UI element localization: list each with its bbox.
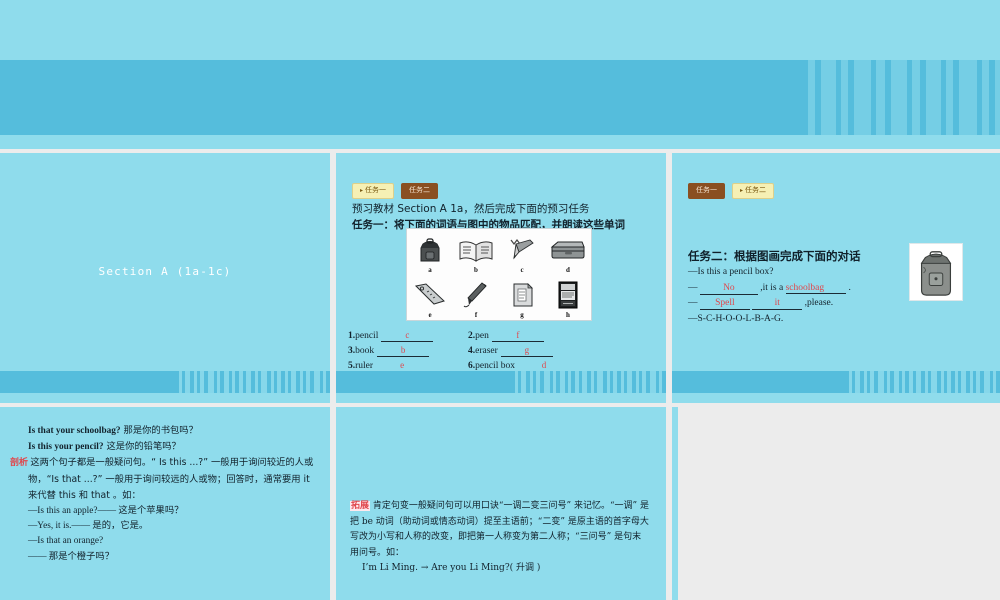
extension-text: 肯定句变一般疑问句可以用口诀“一调二变三问号” 来记忆。“一调” 是把 be 动…: [350, 501, 649, 558]
dictionary-icon: [548, 280, 588, 310]
instruction-line-1: 预习教材 Section A 1a，然后完成下面的预习任务: [352, 201, 652, 217]
match-number: 2.: [468, 331, 475, 341]
backpack-photo: [909, 243, 963, 301]
picture-cell-c: c: [499, 229, 545, 275]
match-row: 3.bookb4.eraserg: [348, 344, 658, 359]
dialogue-line-4: —S-C-H-O-O-L-B-A-G.: [688, 312, 903, 328]
dialog-example-3: —Is that an orange?: [10, 534, 322, 549]
dialogue-block: —Is this a pencil box? — No ,it is a sch…: [688, 265, 903, 327]
dash-1: —: [688, 283, 698, 293]
dialog-example-1: —Is this an apple?—— 这是个苹果吗？: [10, 504, 322, 519]
panel-left-accent: [672, 407, 678, 600]
match-item-eraser: 4.eraserg: [468, 344, 553, 357]
slide-canvas: Section A (1a-1c) ▸ 任务一 任务二 预习教材 Section…: [0, 0, 1000, 600]
task-tabs-middle: ▸ 任务一 任务二: [352, 183, 438, 199]
sentence-1-en: Is that your schoolbag?: [28, 426, 121, 436]
answer-blank-schoolbag[interactable]: schoolbag: [786, 283, 847, 294]
stripe-ticks: [515, 371, 666, 393]
line2-middle: ,it is a: [760, 283, 783, 293]
match-number: 5.: [348, 361, 355, 371]
match-word: book: [355, 346, 374, 356]
analysis-tag: 剖析: [10, 458, 28, 468]
picture-cell-h: h: [545, 275, 591, 321]
header-top-band: [0, 0, 1000, 60]
match-row: 1.pencilc2.penf: [348, 329, 658, 344]
ruler-icon: [410, 280, 450, 310]
stripe-ticks: [849, 371, 1000, 393]
grammar-note-body: Is that your schoolbag? 那是你的书包吗？ Is this…: [10, 423, 322, 565]
answer-blank-no[interactable]: No: [700, 282, 758, 295]
picture-cell-e: e: [407, 275, 453, 321]
chevron-right-icon: ▸: [740, 188, 743, 194]
picture-grid: abcdefgh: [406, 228, 592, 321]
panel-extension-notes: 拓展 肯定句变一般疑问句可以用口诀“一调二变三问号” 来记忆。“一调” 是把 b…: [336, 407, 666, 600]
open-book-icon: [456, 235, 496, 265]
dialog-example-2: —Yes, it is.—— 是的，它是。: [10, 519, 322, 534]
match-number: 6.: [468, 361, 475, 371]
match-number: 3.: [348, 346, 355, 356]
dialogue-line-3: — Spell it ,please.: [688, 296, 903, 312]
match-answer-blank[interactable]: c: [381, 329, 433, 342]
sentence-2-cn: 这是你的铅笔吗？: [104, 441, 181, 452]
dialogue-line-2: — No ,it is a schoolbag .: [688, 281, 903, 297]
match-number: 4.: [468, 346, 475, 356]
pencil-box-icon: [548, 235, 588, 265]
panel-title: Section A (1a-1c): [0, 153, 330, 403]
sentence-2-en: Is this your pencil?: [28, 442, 104, 452]
line3-end: ,please.: [805, 298, 834, 308]
match-answer-blank[interactable]: b: [377, 344, 429, 357]
panel-task-one: ▸ 任务一 任务二 预习教材 Section A 1a，然后完成下面的预习任务 …: [336, 153, 666, 403]
pen-icon: [456, 280, 496, 310]
tab-task-two-label: 任务二: [409, 187, 430, 194]
panel-task-two: 任务一 ▸ 任务二 任务二：根据图画完成下面的对话 —Is this a pen…: [672, 153, 1000, 403]
match-number: 1.: [348, 331, 355, 341]
band-filler: [0, 393, 330, 403]
backpack-icon: [910, 244, 962, 300]
picture-cell-d: d: [545, 229, 591, 275]
stripe-ticks: [179, 371, 330, 393]
match-word: ruler: [355, 361, 373, 371]
match-item-pen: 2.penf: [468, 329, 544, 342]
dialogue-title: 任务二：根据图画完成下面的对话: [688, 248, 861, 264]
panel-empty: [672, 407, 1000, 600]
pencil-icon: [502, 235, 542, 265]
match-item-book: 3.bookb: [348, 344, 468, 357]
dash-2: —: [688, 298, 698, 308]
panel-grammar-notes: Is that your schoolbag? 那是你的书包吗？ Is this…: [0, 407, 330, 600]
match-answer-blank[interactable]: g: [501, 344, 553, 357]
picture-cell-a: a: [407, 229, 453, 275]
match-word: pencil: [355, 331, 378, 341]
dialog-example-4: —— 那是个橙子吗？: [10, 550, 322, 565]
tab-task-one-label: 任务一: [696, 187, 717, 194]
tab-task-two-label: 任务二: [745, 187, 766, 194]
extension-note-body: 拓展 肯定句变一般疑问句可以用口诀“一调二变三问号” 来记忆。“一调” 是把 b…: [350, 499, 650, 577]
match-answer-blank[interactable]: f: [492, 329, 544, 342]
tab-task-two[interactable]: 任务二: [401, 183, 438, 199]
match-word: pen: [475, 331, 489, 341]
picture-label: b: [474, 266, 478, 274]
tab-task-one-label: 任务一: [365, 187, 386, 194]
dialogue-line-1: —Is this a pencil box?: [688, 265, 903, 281]
match-word: pencil box: [475, 361, 515, 371]
picture-label: a: [428, 266, 432, 274]
tab-task-one[interactable]: ▸ 任务一: [352, 183, 394, 199]
band-filler: [336, 393, 666, 403]
example-sentence-2: Is this your pencil? 这是你的铅笔吗？: [10, 439, 322, 455]
analysis-paragraph: 剖析 这两个句子都是一般疑问句。“ Is this ...?” 一般用于询问较近…: [10, 455, 322, 504]
picture-label: e: [428, 311, 431, 319]
extension-example: I’m Li Ming. → Are you Li Ming?( 升调 ): [350, 561, 650, 577]
picture-label: d: [566, 266, 570, 274]
stripe-band: [672, 371, 1000, 393]
schoolbag-icon: [410, 235, 450, 265]
example-sentence-1: Is that your schoolbag? 那是你的书包吗？: [10, 423, 322, 439]
header-bottom-band: [0, 135, 1000, 149]
eraser-icon: [502, 280, 542, 310]
answer-blank-it[interactable]: it: [752, 297, 802, 310]
match-item-pencil: 1.pencilc: [348, 329, 468, 342]
extension-paragraph: 拓展 肯定句变一般疑问句可以用口诀“一调二变三问号” 来记忆。“一调” 是把 b…: [350, 499, 650, 561]
tab-task-two[interactable]: ▸ 任务二: [732, 183, 774, 199]
match-word: eraser: [475, 346, 498, 356]
answer-blank-spell[interactable]: Spell: [700, 297, 750, 310]
header-decorative-bars: [808, 60, 1000, 135]
picture-cell-g: g: [499, 275, 545, 321]
picture-label: f: [475, 311, 477, 319]
band-filler: [672, 393, 1000, 403]
stripe-band: [336, 371, 666, 393]
picture-label: h: [566, 311, 570, 319]
picture-label: c: [520, 266, 523, 274]
extension-tag: 拓展: [350, 501, 370, 511]
picture-cell-f: f: [453, 275, 499, 321]
picture-cell-b: b: [453, 229, 499, 275]
analysis-text: 这两个句子都是一般疑问句。“ Is this ...?” 一般用于询问较近的人或…: [28, 457, 313, 500]
page-title: Section A (1a-1c): [0, 265, 330, 278]
task-tabs-right: 任务一 ▸ 任务二: [688, 183, 774, 199]
tab-task-one[interactable]: 任务一: [688, 183, 725, 199]
sentence-1-cn: 那是你的书包吗？: [121, 425, 198, 436]
line2-end: .: [849, 283, 851, 293]
stripe-band: [0, 371, 330, 393]
picture-label: g: [520, 311, 524, 319]
chevron-right-icon: ▸: [360, 188, 363, 194]
